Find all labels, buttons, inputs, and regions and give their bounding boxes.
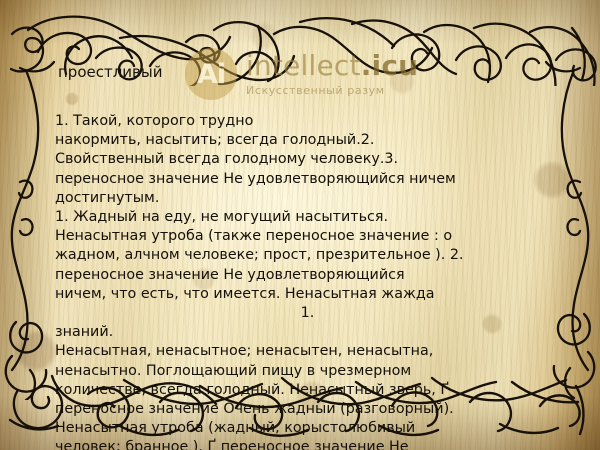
entry-headword: проестливый [58, 63, 163, 81]
slide-content: проестливый 1. Такой, которого труднонак… [0, 0, 600, 450]
definition-sense-marker: 1. [55, 304, 560, 323]
definition-line: переносное значение Очень жадный (разгов… [55, 400, 560, 419]
definition-line: 1. Жадный на еду, не могущий насытиться. [55, 208, 560, 227]
definition-line: ненасытно. Поглощающий пищу в чрезмерном [55, 362, 560, 381]
definition-line: 1. Такой, которого трудно [55, 112, 560, 131]
definition-line: человек; бранное ). Ґ переносное значени… [55, 438, 560, 450]
definition-line: Ненасытная утроба (жадный, корыстолюбивы… [55, 419, 560, 438]
definition-line: количестве, всегда голодный. Ненасытный … [55, 381, 560, 400]
definition-line: Свойственный всегда голодному человеку.3… [55, 150, 560, 169]
definition-line: Ненасытная утроба (также переносное знач… [55, 227, 560, 246]
definition-text: 1. Такой, которого труднонакормить, насы… [55, 112, 560, 450]
definition-line: Ненасытная, ненасытное; ненасытен, ненас… [55, 342, 560, 361]
definition-line: переносное значение Не удовлетворяющийся [55, 266, 560, 285]
definition-line: ничем, что есть, что имеется. Ненасытная… [55, 285, 560, 304]
definition-line: знаний. [55, 323, 560, 342]
definition-line: накормить, насытить; всегда голодный.2. [55, 131, 560, 150]
definition-line: достигнутым. [55, 189, 560, 208]
definition-line: переносное значение Не удовлетворяющийся… [55, 170, 560, 189]
parchment-slide: Ai intellect.icu Искусственный разум про… [0, 0, 600, 450]
definition-line: жадном, алчном человеке; прост, презрите… [55, 246, 560, 265]
